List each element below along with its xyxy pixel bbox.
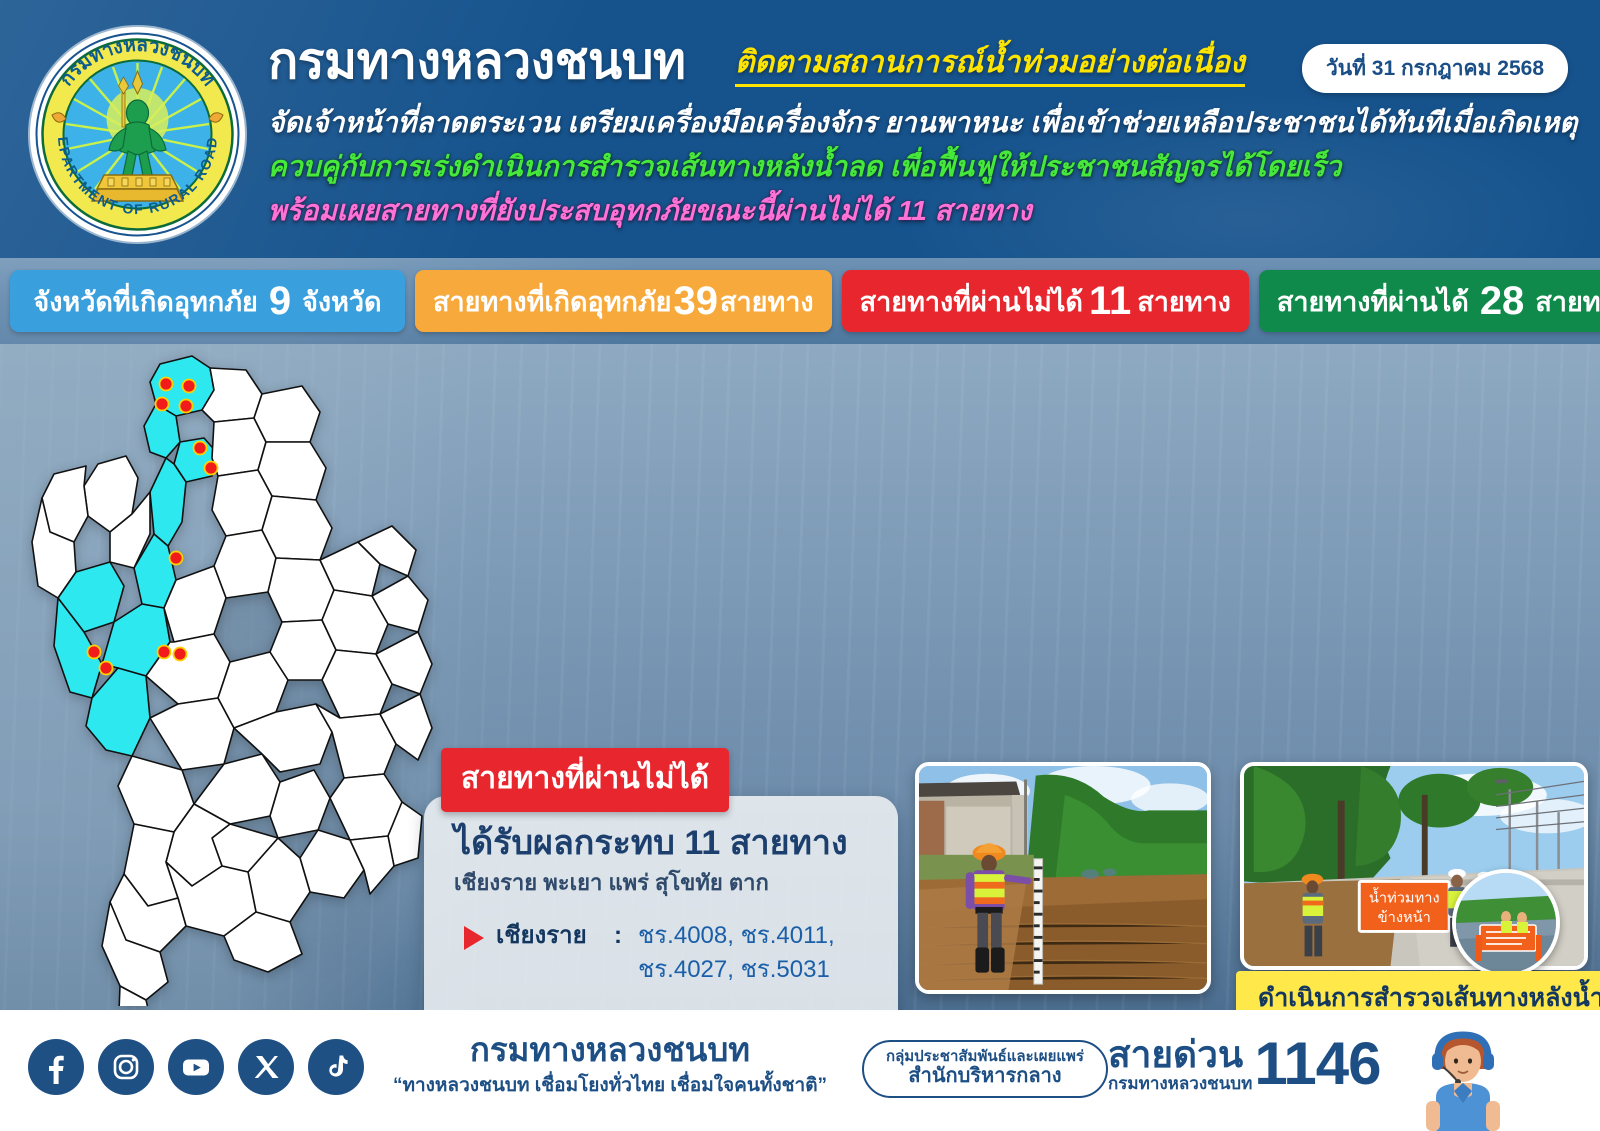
lead-line-3: พร้อมเผยสายทางที่ยังประสบอุทกภัยขณะนี้ผ่… [268, 196, 1032, 227]
stat-label-before: สายทางที่ผ่านไม่ได้ [860, 280, 1083, 323]
stat-value: 39 [674, 281, 719, 321]
hotline-block: สายด่วน กรมทางหลวงชนบท 1146 [1108, 1036, 1380, 1092]
photo-flood-depth-measurement [915, 762, 1211, 994]
social-links [28, 1039, 364, 1095]
road-row: เชียงราย : ชร.4008, ชร.4011, ชร.4027, ชร… [454, 919, 870, 989]
card-provinces: เชียงราย พะเยา แพร่ สุโขทัย ตาก [454, 865, 870, 900]
footer-brand: กรมทางหลวงชนบท “ทางหลวงชนบท เชื่อมโยงทั่… [380, 1032, 840, 1100]
statistics-bar: จังหวัดที่เกิดอุทกภัย 9 จังหวัด สายทางที… [0, 258, 1600, 344]
x-twitter-icon[interactable] [238, 1039, 294, 1095]
infographic-page: กรมทางหลวงชนบท DEPARTMENT OF RURAL ROADS… [0, 0, 1600, 1131]
stat-flooded-roads: สายทางที่เกิดอุทกภัย 39 สายทาง [415, 270, 832, 332]
stat-label-before: สายทางที่ผ่านได้ [1277, 280, 1469, 323]
card-title: ได้รับผลกระทบ 11 สายทาง [454, 826, 870, 862]
hotline-number: 1146 [1254, 1036, 1380, 1092]
photo-inset-barrier [1452, 869, 1560, 977]
stat-value: 9 [269, 281, 291, 321]
date-badge: วันที่ 31 กรกฎาคม 2568 [1302, 44, 1568, 93]
footer-brand-slogan: “ทางหลวงชนบท เชื่อมโยงทั่วไทย เชื่อมใจคน… [380, 1070, 840, 1100]
thailand-map [14, 346, 434, 1006]
stat-label-before: สายทางที่เกิดอุทกภัย [433, 280, 672, 323]
youtube-icon[interactable] [168, 1039, 224, 1095]
footer-brand-name: กรมทางหลวงชนบท [380, 1032, 840, 1068]
colon-separator: : [614, 919, 630, 954]
stat-flooded-provinces: จังหวัดที่เกิดอุทกภัย 9 จังหวัด [10, 270, 405, 332]
content-backdrop: น้ำท่วมทาง ข้างหน้า [0, 344, 1600, 1010]
stat-passable-roads: สายทางที่ผ่านได้ 28 สายทาง [1259, 270, 1600, 332]
impassable-roads-card: ได้รับผลกระทบ 11 สายทาง เชียงราย พะเยา แ… [424, 796, 898, 1010]
instagram-icon[interactable] [98, 1039, 154, 1095]
province-name: พะเยา [496, 1007, 614, 1010]
road-codes: ชร.4008, ชร.4011, ชร.4027, ชร.5031 [630, 919, 870, 989]
footer-bar: กรมทางหลวงชนบท “ทางหลวงชนบท เชื่อมโยงทั่… [0, 1010, 1600, 1131]
colon-separator: : [614, 1007, 630, 1010]
photo-flood-depth-icon [919, 766, 1207, 990]
stat-label-after: สายทาง [1535, 280, 1600, 323]
province-name: เชียงราย [496, 919, 614, 954]
page-subtitle: ติดตามสถานการณ์น้ำท่วมอย่างต่อเนื่อง [735, 48, 1245, 87]
stat-impassable-roads: สายทางที่ผ่านไม่ได้ 11 สายทาง [842, 270, 1249, 332]
header-banner: กรมทางหลวงชนบท DEPARTMENT OF RURAL ROADS… [0, 0, 1600, 258]
facebook-icon[interactable] [28, 1039, 84, 1095]
stat-value: 28 [1480, 281, 1525, 321]
logo-emblem-icon: กรมทางหลวงชนบท DEPARTMENT OF RURAL ROADS [30, 27, 245, 242]
hotline-word: สายด่วน [1108, 1036, 1252, 1073]
call-center-operator-icon [1408, 1005, 1518, 1131]
thailand-map-icon [14, 346, 434, 1006]
department-logo: กรมทางหลวงชนบท DEPARTMENT OF RURAL ROADS [30, 27, 245, 242]
stat-label-after: จังหวัด [302, 280, 382, 323]
page-title: กรมทางหลวงชนบท [268, 36, 685, 86]
stat-label-before: จังหวัดที่เกิดอุทกภัย [33, 280, 257, 323]
pr-line-2: สำนักบริหารกลาง [886, 1065, 1084, 1088]
tiktok-icon[interactable] [308, 1039, 364, 1095]
road-codes: พย.4029, พย.002 [630, 1007, 870, 1010]
hotline-dept: กรมทางหลวงชนบท [1108, 1075, 1252, 1092]
stat-value: 11 [1089, 281, 1131, 321]
sign-text-line2: ข้างหน้า [1378, 909, 1431, 926]
pr-line-1: กลุ่มประชาสัมพันธ์และเผยแพร่ [886, 1048, 1084, 1065]
hotline-labels: สายด่วน กรมทางหลวงชนบท [1108, 1036, 1252, 1092]
pr-division-badge: กลุ่มประชาสัมพันธ์และเผยแพร่ สำนักบริหาร… [862, 1040, 1108, 1098]
arrow-right-icon [464, 926, 484, 950]
stat-label-after: สายทาง [1137, 280, 1231, 323]
road-list: เชียงราย : ชร.4008, ชร.4011, ชร.4027, ชร… [454, 919, 870, 1010]
road-row: พะเยา : พย.4029, พย.002 [454, 1007, 870, 1010]
lead-line-2: ควบคู่กับการเร่งดำเนินการสำรวจเส้นทางหลั… [268, 152, 1341, 183]
stat-label-after: สายทาง [720, 280, 814, 323]
impassable-banner: สายทางที่ผ่านไม่ได้ [441, 748, 729, 812]
lead-line-1: จัดเจ้าหน้าที่ลาดตระเวน เตรียมเครื่องมือ… [268, 108, 1577, 139]
